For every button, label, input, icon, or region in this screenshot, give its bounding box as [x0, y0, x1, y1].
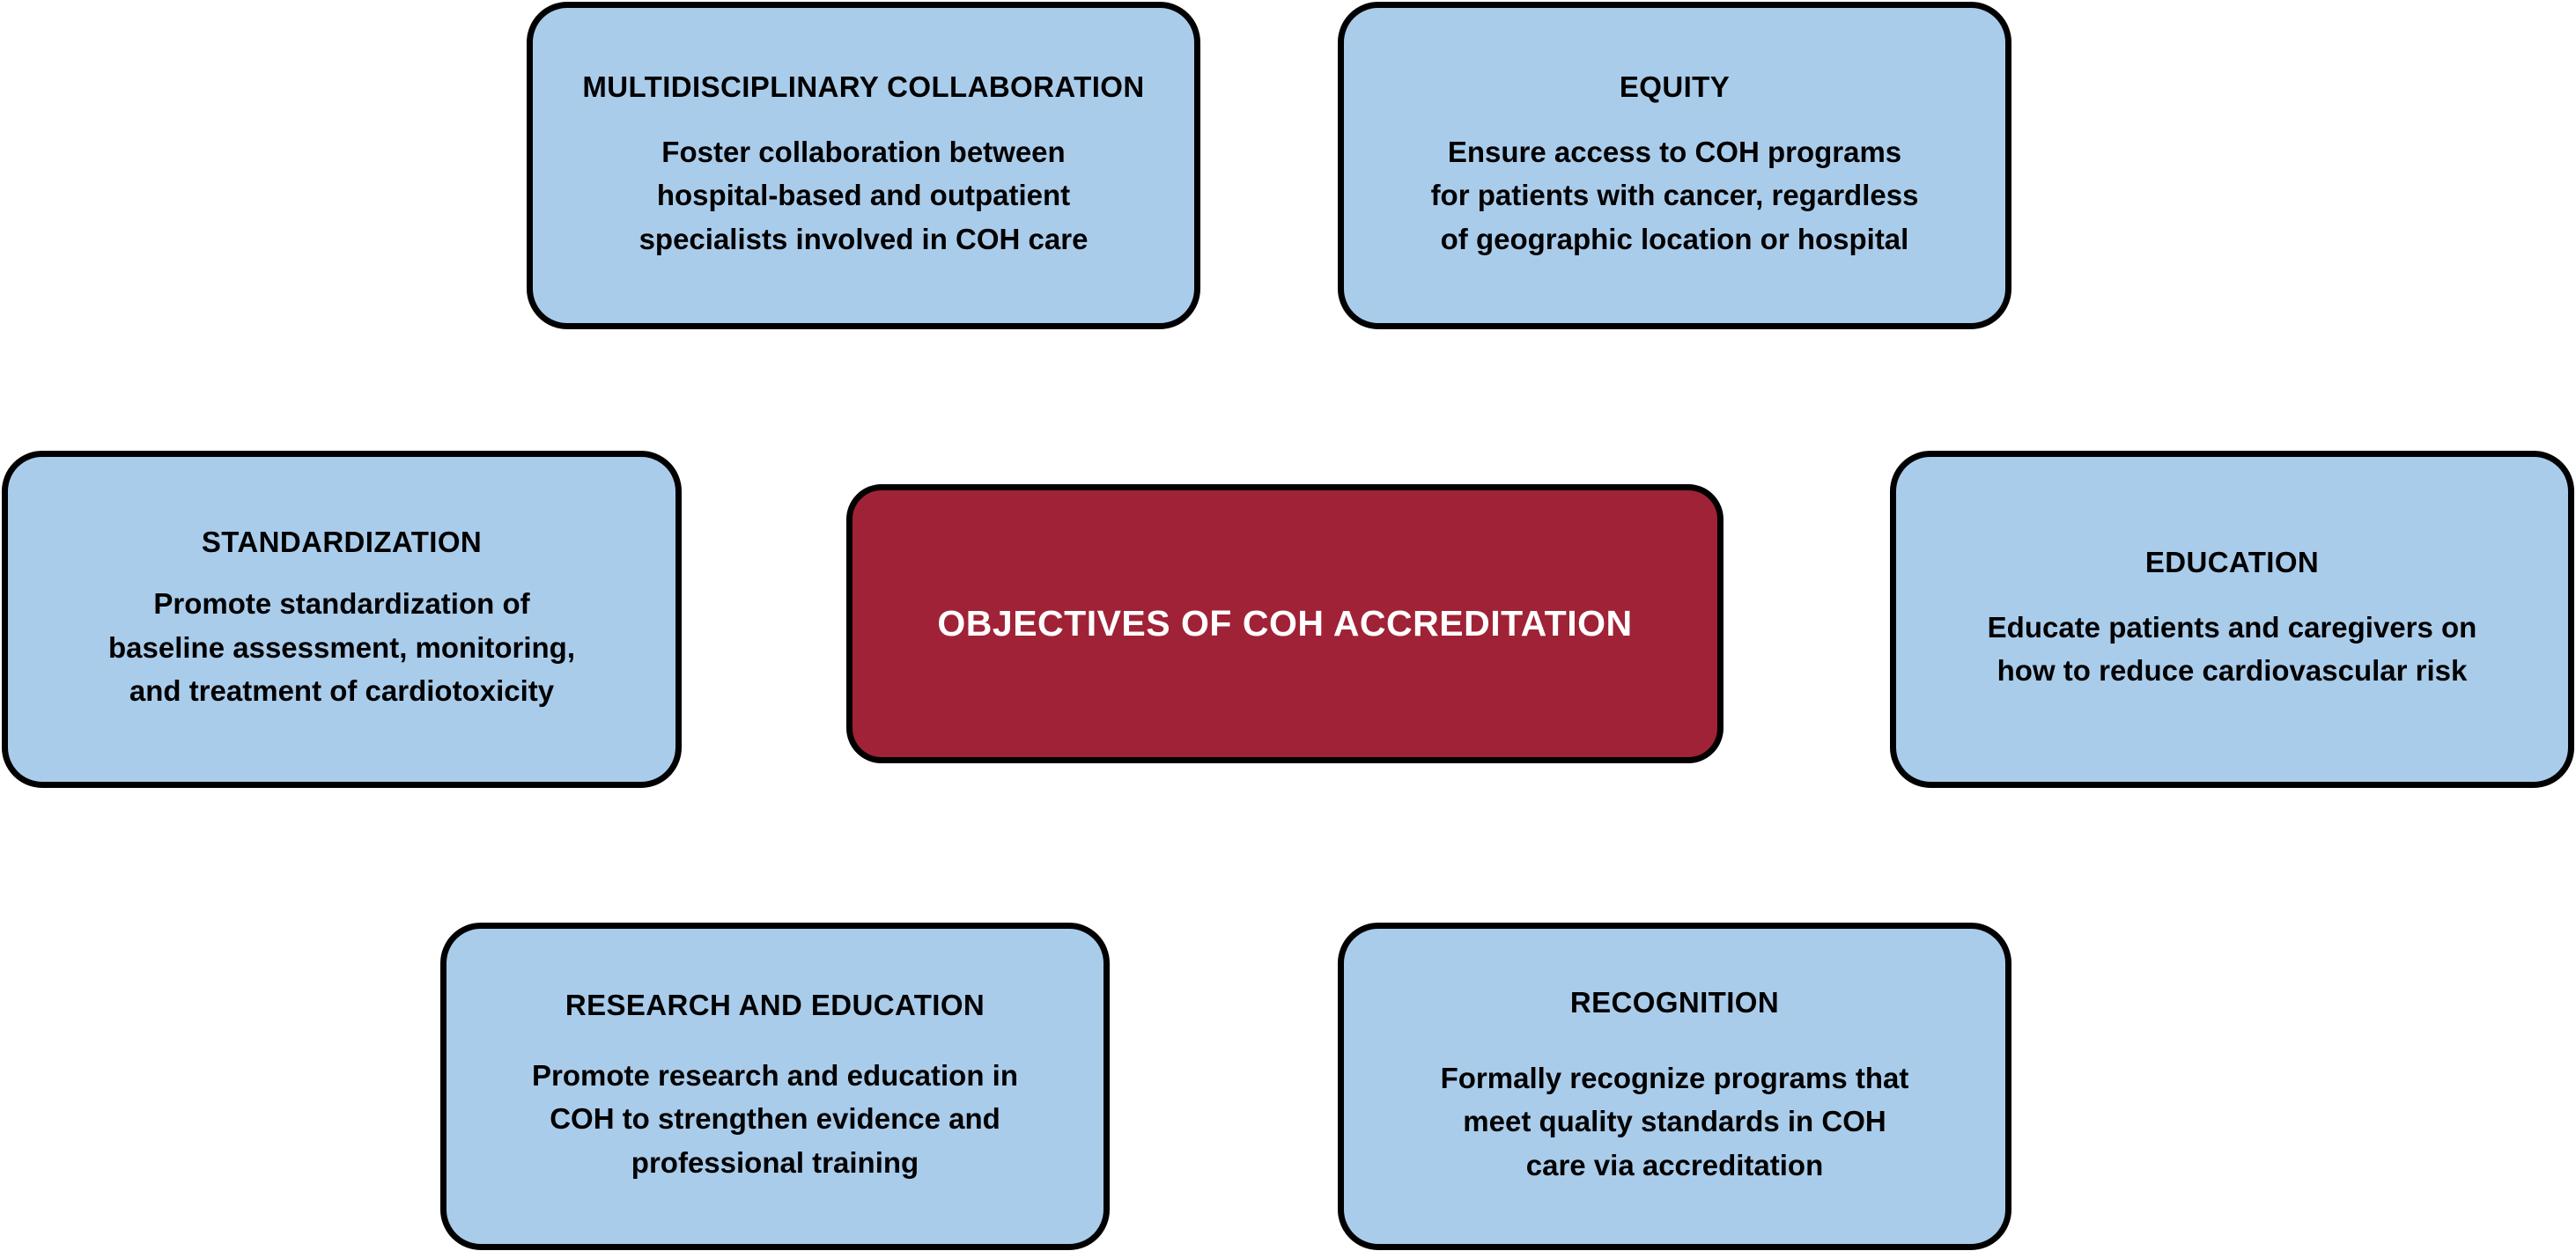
node-body: Educate patients and caregivers on how t…: [1988, 606, 2477, 693]
node-equity: EQUITY Ensure access to COH programs for…: [1338, 2, 2011, 329]
center-node-title: OBJECTIVES OF COH ACCREDITATION: [937, 602, 1632, 645]
node-multidisciplinary-collaboration: MULTIDISCIPLINARY COLLABORATION Foster c…: [527, 2, 1200, 329]
diagram-canvas: MULTIDISCIPLINARY COLLABORATION Foster c…: [0, 0, 2576, 1251]
node-title: STANDARDIZATION: [202, 526, 482, 559]
node-body: Foster collaboration between hospital-ba…: [639, 130, 1089, 261]
node-title: EQUITY: [1620, 70, 1730, 104]
node-research-and-education: RESEARCH AND EDUCATION Promote research …: [440, 923, 1110, 1250]
node-body: Promote research and education in COH to…: [532, 1054, 1018, 1185]
node-standardization: STANDARDIZATION Promote standardization …: [2, 451, 682, 788]
node-title: MULTIDISCIPLINARY COLLABORATION: [582, 70, 1144, 104]
node-body: Promote standardization of baseline asse…: [108, 582, 575, 713]
node-title: RECOGNITION: [1570, 986, 1779, 1019]
center-node-objectives: OBJECTIVES OF COH ACCREDITATION: [846, 484, 1723, 763]
node-education: EDUCATION Educate patients and caregiver…: [1890, 451, 2574, 788]
node-title: RESEARCH AND EDUCATION: [565, 989, 985, 1022]
node-recognition: RECOGNITION Formally recognize programs …: [1338, 923, 2011, 1250]
node-body: Formally recognize programs that meet qu…: [1441, 1056, 1909, 1188]
node-title: EDUCATION: [2145, 546, 2319, 579]
node-body: Ensure access to COH programs for patien…: [1431, 130, 1919, 261]
